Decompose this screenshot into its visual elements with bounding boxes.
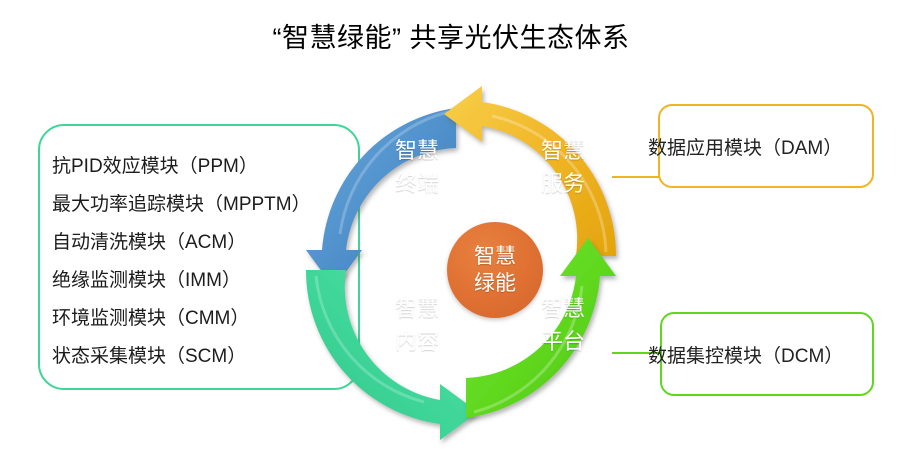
center-hub[interactable]: 智慧 绿能: [447, 222, 543, 318]
quadrant-label-service: 智慧 服务: [528, 134, 598, 200]
quadrant-label-terminal: 智慧 终端: [382, 134, 452, 200]
dam-panel-label: 数据应用模块（DAM）: [648, 133, 842, 160]
dcm-panel-label: 数据集控模块（DCM）: [648, 341, 843, 368]
diagram-canvas: “智慧绿能” 共享光伏生态体系 抗PID效应模块（PPM） 最大功率追踪模块（M…: [0, 0, 902, 459]
quadrant-label-content: 智慧 内容: [382, 292, 452, 358]
page-title: “智慧绿能” 共享光伏生态体系: [0, 16, 902, 55]
center-hub-label: 智慧 绿能: [474, 243, 516, 297]
quadrant-label-platform: 智慧 平台: [528, 292, 598, 358]
